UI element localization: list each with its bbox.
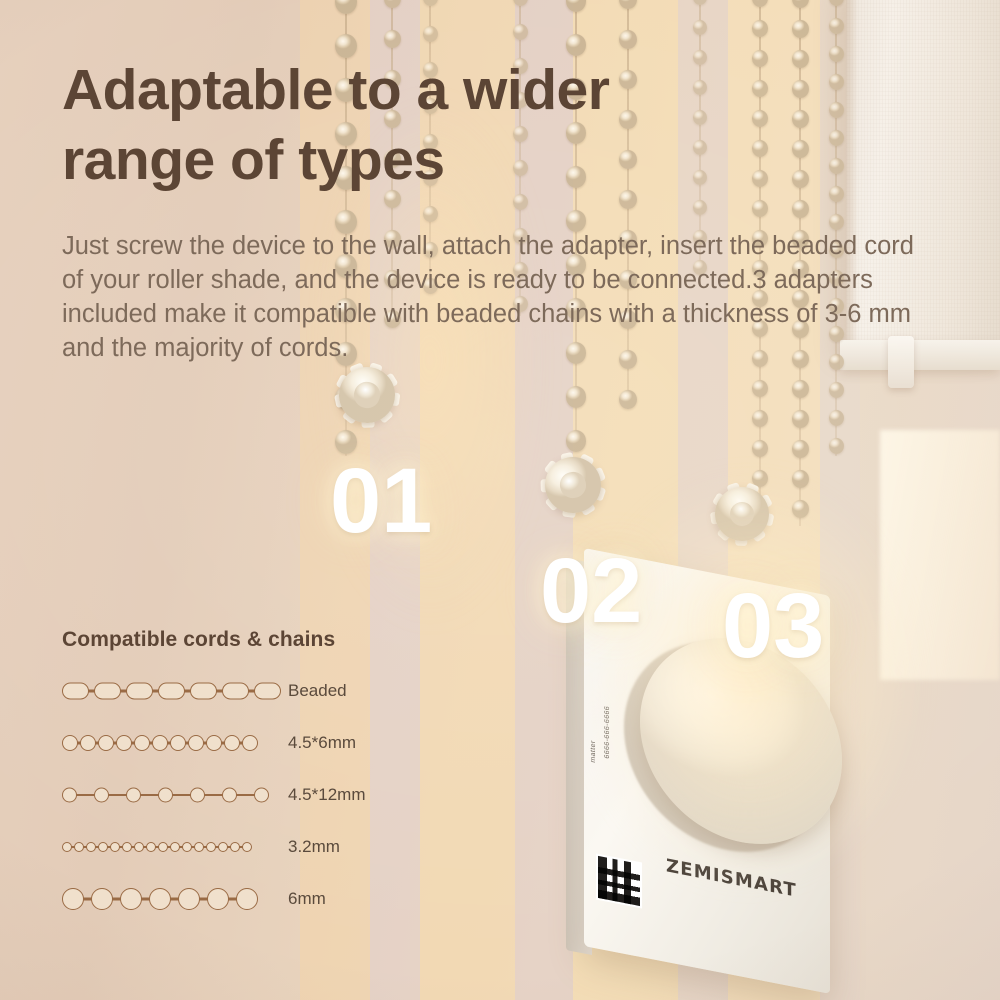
- compatibility-row: 4.5*6mm: [62, 724, 432, 762]
- chain-bead-outline: [62, 888, 84, 910]
- step-number-03: 03: [722, 580, 824, 672]
- chain-bead-outline: [86, 842, 96, 852]
- chain-link: [76, 794, 95, 796]
- chain-link: [236, 794, 255, 796]
- round-bead-chain-icon: [62, 730, 262, 756]
- chain-bead-outline: [207, 888, 229, 910]
- chain-bead-outline: [222, 788, 237, 803]
- chain-bead-outline: [94, 788, 109, 803]
- chain-bead-outline: [178, 888, 200, 910]
- chain-bead-outline: [146, 842, 156, 852]
- chain-bead-outline: [74, 842, 84, 852]
- chain-bead-outline: [170, 842, 180, 852]
- chain-bead-outline: [149, 888, 171, 910]
- chain-bead-outline: [188, 735, 204, 751]
- chain-bead-outline: [170, 735, 186, 751]
- compatibility-section: Compatible cords & chains Beaded4.5*6mm4…: [62, 628, 432, 932]
- compatibility-row: 4.5*12mm: [62, 776, 432, 814]
- compatibility-row: Beaded: [62, 672, 432, 710]
- compatibility-label: 3.2mm: [288, 837, 340, 857]
- chain-bead-outline: [80, 735, 96, 751]
- step-number-01: 01: [330, 455, 432, 547]
- chain-bead-outline: [91, 888, 113, 910]
- micro-bead-chain-icon: [62, 834, 262, 860]
- chain-bead-outline: [62, 683, 89, 700]
- chain-bead-outline: [224, 735, 240, 751]
- chain-bead-outline: [190, 788, 205, 803]
- description-paragraph: Just screw the device to the wall, attac…: [62, 230, 922, 366]
- compatibility-label: 6mm: [288, 889, 326, 909]
- chain-bead-outline: [230, 842, 240, 852]
- compatibility-label: 4.5*6mm: [288, 733, 356, 753]
- chain-bead-outline: [158, 683, 185, 700]
- chain-bead-outline: [242, 842, 252, 852]
- chain-bead-outline: [190, 683, 217, 700]
- chain-bead-outline: [110, 842, 120, 852]
- compatibility-row: 6mm: [62, 880, 432, 918]
- compatibility-heading: Compatible cords & chains: [62, 628, 432, 652]
- chain-bead-outline: [254, 683, 281, 700]
- chain-link: [172, 794, 191, 796]
- chain-bead-outline: [122, 842, 132, 852]
- chain-link: [204, 794, 223, 796]
- chain-bead-outline: [62, 735, 78, 751]
- chain-link: [140, 794, 159, 796]
- chain-bead-outline: [94, 683, 121, 700]
- chain-bead-outline: [158, 842, 168, 852]
- chain-bead-outline: [126, 683, 153, 700]
- chain-bead-outline: [98, 842, 108, 852]
- chain-bead-outline: [158, 788, 173, 803]
- chain-bead-outline: [218, 842, 228, 852]
- chain-bead-outline: [254, 788, 269, 803]
- step-number-02: 02: [540, 545, 642, 637]
- chain-bead-outline: [222, 683, 249, 700]
- oval-bead-chain-icon: [62, 678, 262, 704]
- compatibility-row: 3.2mm: [62, 828, 432, 866]
- chain-bead-outline: [116, 735, 132, 751]
- product-marketing-image: matter 6666-666-6666 ZEMISMART 010203 Ad…: [0, 0, 1000, 1000]
- chain-bead-outline: [62, 788, 77, 803]
- compatibility-label: 4.5*12mm: [288, 785, 365, 805]
- chain-bead-outline: [120, 888, 142, 910]
- chain-bead-outline: [206, 842, 216, 852]
- chain-bead-outline: [126, 788, 141, 803]
- page-title: Adaptable to a wider range of types: [62, 56, 762, 195]
- compatibility-rows: Beaded4.5*6mm4.5*12mm3.2mm6mm: [62, 672, 432, 918]
- large-bead-chain-icon: [62, 886, 262, 912]
- chain-bead-outline: [236, 888, 258, 910]
- chain-bead-outline: [152, 735, 168, 751]
- chain-bead-outline: [242, 735, 258, 751]
- chain-bead-outline: [194, 842, 204, 852]
- chain-bead-outline: [182, 842, 192, 852]
- compatibility-label: Beaded: [288, 681, 347, 701]
- chain-bead-outline: [206, 735, 222, 751]
- chain-bead-outline: [134, 735, 150, 751]
- chain-bead-outline: [98, 735, 114, 751]
- chain-link: [108, 794, 127, 796]
- chain-bead-outline: [62, 842, 72, 852]
- chain-bead-outline: [134, 842, 144, 852]
- spaced-bead-chain-icon: [62, 782, 262, 808]
